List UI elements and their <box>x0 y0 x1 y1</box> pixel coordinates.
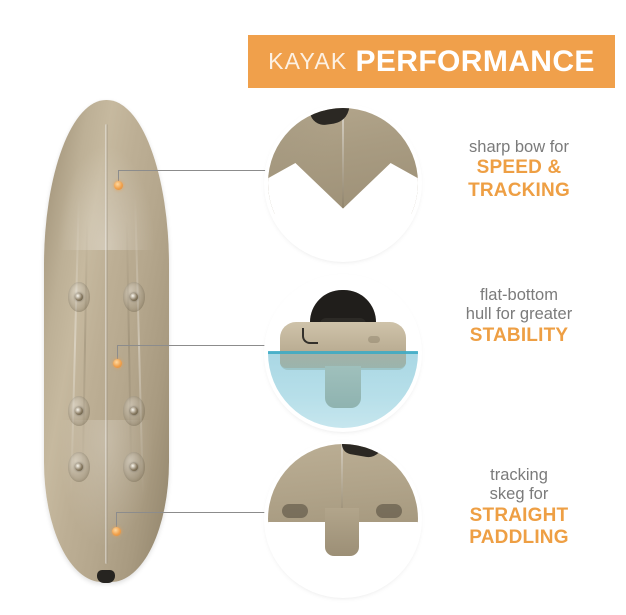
detail-circle-skeg[interactable] <box>268 444 418 594</box>
feature-marker-skeg[interactable] <box>112 527 121 536</box>
detail-circle-hull[interactable] <box>268 278 418 428</box>
stern-keel-edge <box>341 444 343 514</box>
stern-recess-right <box>376 504 402 518</box>
callout-hull-line3: STABILITY <box>424 325 614 347</box>
callout-hull: flat-bottom hull for greater STABILITY <box>424 286 614 347</box>
drain-plug-icon <box>68 452 90 482</box>
detail-circle-hull-image <box>268 278 418 428</box>
drain-plug-icon <box>68 396 90 426</box>
banner-prefix: KAYAK <box>268 48 347 75</box>
stern-recess-left <box>282 504 308 518</box>
kayak-hull-illustration <box>44 100 169 590</box>
feature-marker-bow[interactable] <box>114 181 123 190</box>
callout-bow: sharp bow for SPEED & TRACKING <box>424 138 614 202</box>
callout-bow-line2: SPEED & <box>424 157 614 179</box>
waterline-indicator <box>268 351 418 354</box>
drain-plug-icon <box>68 282 90 312</box>
banner-title: PERFORMANCE <box>355 45 594 79</box>
seat-strap-icon <box>302 328 318 344</box>
callout-hull-line2: hull for greater <box>424 305 614 324</box>
detail-circle-bow-image <box>268 108 418 258</box>
callout-skeg: tracking skeg for STRAIGHT PADDLING <box>424 466 614 550</box>
callout-skeg-line1: tracking <box>424 466 614 485</box>
bow-keel-edge <box>342 108 344 208</box>
detail-circle-bow[interactable] <box>268 108 418 258</box>
callout-hull-line1: flat-bottom <box>424 286 614 305</box>
hull-center-fin <box>325 366 361 408</box>
callout-skeg-line3: STRAIGHT <box>424 505 614 527</box>
detail-circle-skeg-image <box>268 444 418 594</box>
callout-bow-line1: sharp bow for <box>424 138 614 157</box>
hull-hardware-icon <box>368 336 380 343</box>
stern-skeg-nub <box>97 570 115 583</box>
hull-keel-line <box>105 124 108 564</box>
header-banner: KAYAK PERFORMANCE <box>248 35 615 88</box>
drain-plug-icon <box>123 282 145 312</box>
skeg-fin <box>325 508 359 556</box>
drain-plug-icon <box>123 396 145 426</box>
infographic-canvas: KAYAK PERFORMANCE <box>0 0 626 615</box>
callout-bow-line3: TRACKING <box>424 180 614 202</box>
callout-skeg-line4: PADDLING <box>424 527 614 549</box>
callout-skeg-line2: skeg for <box>424 485 614 504</box>
feature-marker-hull[interactable] <box>113 359 122 368</box>
drain-plug-icon <box>123 452 145 482</box>
